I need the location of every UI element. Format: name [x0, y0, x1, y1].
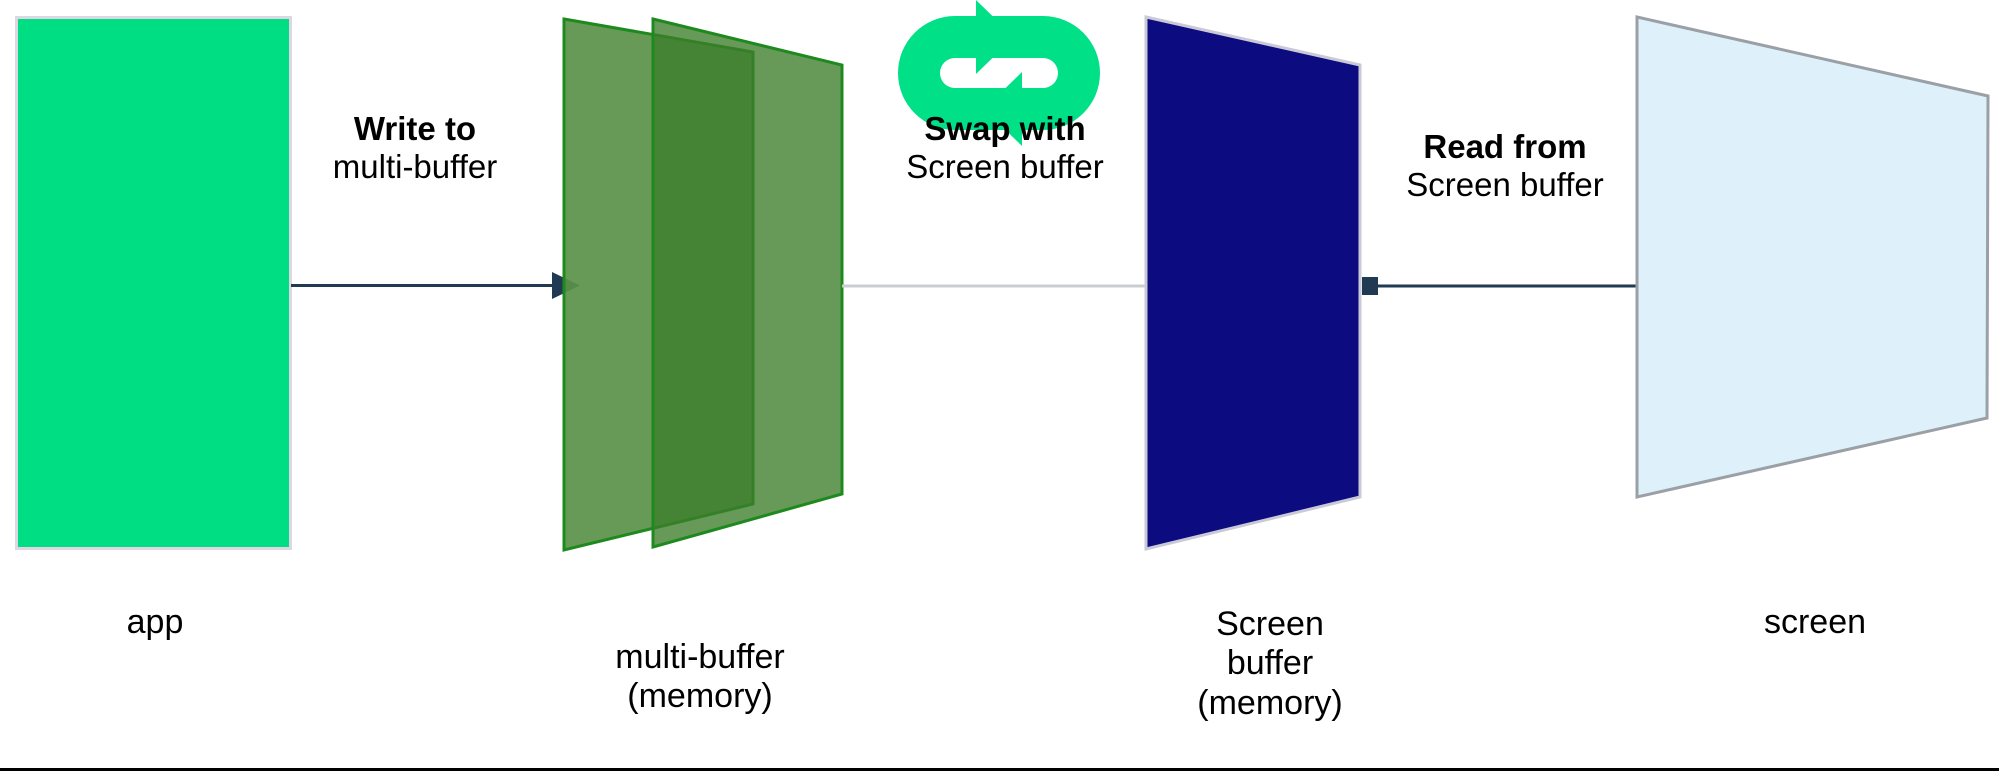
multi-buffer-caption-line2: (memory) — [545, 677, 855, 716]
swap-edge-label-line2: Screen buffer — [840, 148, 1170, 186]
screen-buffer-caption-line1: Screen — [1120, 605, 1420, 644]
screen-buffer-node-caption: Screen buffer (memory) — [1120, 605, 1420, 723]
write-edge-label: Write to multi-buffer — [260, 110, 570, 187]
diagram-canvas: Write to multi-buffer Swap with Screen b… — [0, 0, 1999, 771]
screen-buffer-node-shape[interactable] — [1146, 17, 1360, 549]
read-edge-label-line1: Read from — [1345, 128, 1665, 166]
multi-buffer-caption-line1: multi-buffer — [545, 638, 855, 677]
write-edge-label-line2: multi-buffer — [260, 148, 570, 186]
screen-buffer-caption-line2: buffer — [1120, 644, 1420, 683]
swap-edge-label: Swap with Screen buffer — [840, 110, 1170, 187]
app-caption-text: app — [30, 603, 280, 642]
swap-edge-label-line1: Swap with — [840, 110, 1170, 148]
screen-node-shape[interactable] — [1637, 17, 1988, 497]
read-edge-label: Read from Screen buffer — [1345, 128, 1665, 205]
read-edge-label-line2: Screen buffer — [1345, 166, 1665, 204]
multi-buffer-node-caption: multi-buffer (memory) — [545, 638, 855, 717]
write-edge-label-line1: Write to — [260, 110, 570, 148]
multi-buffer-node-shape[interactable] — [564, 19, 842, 550]
write-connector[interactable] — [291, 272, 580, 299]
screen-buffer-caption-line3: (memory) — [1120, 684, 1420, 723]
screen-node-caption: screen — [1680, 603, 1950, 642]
read-connector[interactable] — [1362, 277, 1637, 295]
screen-caption-text: screen — [1680, 603, 1950, 642]
app-node-shape[interactable] — [17, 18, 291, 549]
app-node-caption: app — [30, 603, 280, 642]
